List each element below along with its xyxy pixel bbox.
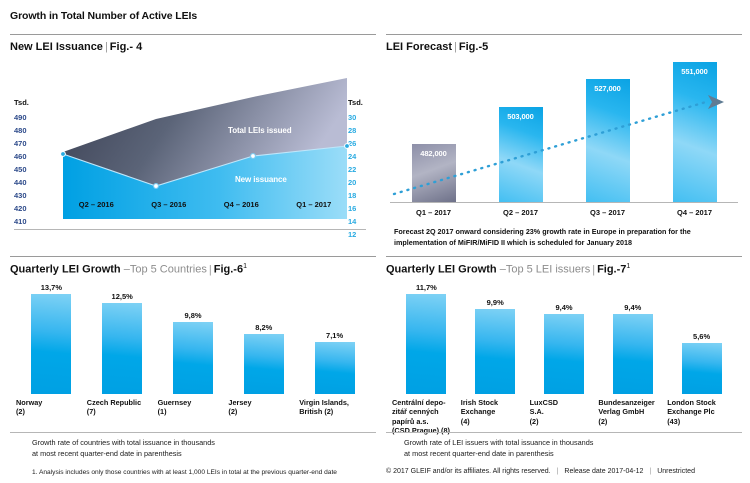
area-chart-plot-fig4: Total LEIs issued New issuance xyxy=(60,74,350,219)
bar-value-label: 482,000 xyxy=(412,149,456,158)
title-separator: | xyxy=(207,264,214,276)
category-name-line: Exchange xyxy=(461,407,524,416)
category-count: (CSD Prague) (8) xyxy=(392,426,455,435)
left-tick: 480 xyxy=(14,124,29,137)
area-chart-svg xyxy=(60,74,350,219)
bar-london-stock-exchange[interactable] xyxy=(682,343,722,394)
panel-title-text: Quarterly LEI Growth xyxy=(386,264,497,276)
forecast-note-line-1: Forecast 2Q 2017 onward considering 23% … xyxy=(394,226,724,237)
bar-slot: 9,4% xyxy=(598,282,667,394)
bar-slot: 13,7% xyxy=(16,282,87,394)
country-category-labels: Norway (2) Czech Republic (7) Guernsey (… xyxy=(16,398,370,417)
release-date: Release date 2017-04-12 xyxy=(564,468,643,475)
panel-title-subject: Top 5 LEI issuers xyxy=(506,264,590,276)
bar-guernsey[interactable] xyxy=(173,322,213,394)
bar-slot: 9,4% xyxy=(530,282,599,394)
category-name-line: Verlag GmbH xyxy=(598,407,661,416)
bar-bundesanzeiger-verlag[interactable] xyxy=(613,314,653,394)
bar-q3-2017-forecast[interactable]: 527,000 xyxy=(586,79,630,202)
x-axis-category-labels: Q2 – 2016 Q3 – 2016 Q4 – 2016 Q1 – 2017 xyxy=(60,200,350,209)
right-axis-unit: Tsd. xyxy=(348,96,363,109)
category-label-jersey: Jersey (2) xyxy=(228,398,299,417)
right-tick: 30 xyxy=(348,111,363,124)
bar-irish-stock-exchange[interactable] xyxy=(475,309,515,394)
category-count: (1) xyxy=(158,407,223,416)
right-tick: 16 xyxy=(348,202,363,215)
category-label-london-stock-exchange: London Stock Exchange Plc (43) xyxy=(667,398,736,436)
bar-slot: 503,000 xyxy=(477,62,564,202)
category-label-norway: Norway (2) xyxy=(16,398,87,417)
figure-number: Fig.-5 xyxy=(459,41,488,53)
panel-note-issuers: Growth rate of LEI issuers with total is… xyxy=(404,438,724,459)
category-name: Virgin Islands, xyxy=(299,398,364,407)
panel-divider-rule xyxy=(386,256,742,257)
category-name-line: S.A. xyxy=(530,407,593,416)
category-name-line: papírů a.s. xyxy=(392,417,455,426)
category-name-line: London Stock xyxy=(667,398,730,407)
bar-row: 11,7% 9,9% 9,4% 9,4% 5,6% xyxy=(392,282,736,394)
category-name-line: Irish Stock xyxy=(461,398,524,407)
note-line-1: Growth rate of LEI issuers with total is… xyxy=(404,438,724,449)
bar-value-label: 551,000 xyxy=(673,67,717,76)
forecast-note: Forecast 2Q 2017 onward considering 23% … xyxy=(394,226,724,248)
left-tick: 440 xyxy=(14,176,29,189)
bar-slot: 9,8% xyxy=(158,282,229,394)
title-separator: | xyxy=(103,41,110,53)
data-point-marker xyxy=(154,184,159,189)
panel-title-fig4: New LEI Issuance|Fig.- 4 xyxy=(10,41,142,53)
category-count: (2) xyxy=(530,417,593,426)
footer-rule xyxy=(386,432,742,433)
x-label: Q4 – 2017 xyxy=(651,208,738,217)
bar-q2-2017-forecast[interactable]: 503,000 xyxy=(499,107,543,202)
panel-lei-forecast: LEI Forecast|Fig.-5 482,000 503,000 527,… xyxy=(386,34,742,249)
panel-title-text: LEI Forecast xyxy=(386,41,452,53)
panel-title-text: Quarterly LEI Growth xyxy=(10,264,121,276)
category-label-csd-prague: Centrální depo- zitář cenných papírů a.s… xyxy=(392,398,461,436)
category-count: British (2) xyxy=(299,407,364,416)
bar-value-label: 9,4% xyxy=(555,303,572,312)
bar-q1-2017-actual[interactable]: 482,000 xyxy=(412,144,456,202)
bar-row: 13,7% 12,5% 9,8% 8,2% 7,1% xyxy=(16,282,370,394)
left-tick: 430 xyxy=(14,189,29,202)
bar-czech-republic[interactable] xyxy=(102,303,142,394)
left-axis-labels: Tsd. 490 480 470 460 450 440 430 420 410 xyxy=(14,96,29,228)
issuer-category-labels: Centrální depo- zitář cenných papírů a.s… xyxy=(392,398,736,436)
figure-number: Fig.- 4 xyxy=(110,41,142,53)
panel-divider-rule xyxy=(10,256,376,257)
x-label: Q1 – 2017 xyxy=(390,208,477,217)
bar-luxcsd-sa[interactable] xyxy=(544,314,584,394)
bar-slot: 9,9% xyxy=(461,282,530,394)
forecast-bars: 482,000 503,000 527,000 551,000 xyxy=(390,62,738,202)
category-label-virgin-islands-british: Virgin Islands, British (2) xyxy=(299,398,370,417)
panel-divider-rule xyxy=(10,34,376,35)
note-line-2: at most recent quarter-end date in paren… xyxy=(404,449,724,460)
country-growth-bars: 13,7% 12,5% 9,8% 8,2% 7,1% xyxy=(16,282,370,394)
x-axis-baseline xyxy=(14,229,366,230)
issuer-growth-bars: 11,7% 9,9% 9,4% 9,4% 5,6% xyxy=(392,282,736,394)
category-count: (2) xyxy=(228,407,293,416)
category-name-line: LuxCSD xyxy=(530,398,593,407)
panel-new-lei-issuance: New LEI Issuance|Fig.- 4 Tsd. 490 480 47… xyxy=(10,34,376,234)
category-name-line: Centrální depo- xyxy=(392,398,455,407)
page-title: Growth in Total Number of Active LEIs xyxy=(10,10,197,22)
x-label: Q4 – 2016 xyxy=(205,200,278,209)
bar-slot: 551,000 xyxy=(651,62,738,202)
right-tick: 18 xyxy=(348,189,363,202)
right-tick: 26 xyxy=(348,137,363,150)
category-name: Czech Republic xyxy=(87,398,152,407)
bar-slot: 8,2% xyxy=(228,282,299,394)
right-tick: 14 xyxy=(348,215,363,228)
copyright-line: © 2017 GLEIF and/or its affiliates. All … xyxy=(386,468,695,475)
bar-value-label: 12,5% xyxy=(112,292,133,301)
bar-csd-prague[interactable] xyxy=(406,294,446,394)
figure-footnote-marker: 1 xyxy=(243,263,247,270)
category-name-line: Bundesanzeiger xyxy=(598,398,661,407)
note-line-2: at most recent quarter-end date in paren… xyxy=(32,449,352,460)
data-point-marker xyxy=(345,144,350,149)
left-tick: 470 xyxy=(14,137,29,150)
x-label: Q3 – 2016 xyxy=(133,200,206,209)
bar-value-label: 9,9% xyxy=(487,298,504,307)
panel-divider-rule xyxy=(386,34,742,35)
x-label: Q1 – 2017 xyxy=(278,200,351,209)
category-count: (2) xyxy=(16,407,81,416)
figure-number: Fig.-7 xyxy=(597,264,626,276)
bar-slot: 527,000 xyxy=(564,62,651,202)
figure-number: Fig.-6 xyxy=(214,264,243,276)
bar-value-label: 5,6% xyxy=(693,332,710,341)
bar-q4-2017-forecast[interactable]: 551,000 xyxy=(673,62,717,202)
panel-title-subject: Top 5 Countries xyxy=(130,264,207,276)
bar-value-label: 11,7% xyxy=(416,283,437,292)
bar-value-label: 9,4% xyxy=(624,303,641,312)
left-axis-unit: Tsd. xyxy=(14,96,29,109)
note-line-1: Growth rate of countries with total issu… xyxy=(32,438,352,449)
category-label-bundesanzeiger: Bundesanzeiger Verlag GmbH (2) xyxy=(598,398,667,436)
right-tick: 24 xyxy=(348,150,363,163)
category-label-guernsey: Guernsey (1) xyxy=(158,398,229,417)
left-tick: 420 xyxy=(14,202,29,215)
footnote-1: 1. Analysis includes only those countrie… xyxy=(32,468,382,478)
category-count: (2) xyxy=(598,417,661,426)
right-tick: 20 xyxy=(348,176,363,189)
bar-virgin-islands-british[interactable] xyxy=(315,342,355,394)
category-label-irish-stock-exchange: Irish Stock Exchange (4) xyxy=(461,398,530,436)
x-label: Q2 – 2016 xyxy=(60,200,133,209)
series-label-new-issuance: New issuance xyxy=(235,175,287,184)
right-axis-labels: Tsd. 30 28 26 24 22 20 18 16 14 12 xyxy=(348,96,363,241)
bar-value-label: 527,000 xyxy=(586,84,630,93)
data-point-marker xyxy=(251,154,256,159)
bar-value-label: 13,7% xyxy=(41,283,62,292)
report-page: Growth in Total Number of Active LEIs Ne… xyxy=(0,0,750,483)
category-name: Jersey xyxy=(228,398,293,407)
category-name: Guernsey xyxy=(158,398,223,407)
x-label: Q2 – 2017 xyxy=(477,208,564,217)
category-label-czech-republic: Czech Republic (7) xyxy=(87,398,158,417)
left-tick: 490 xyxy=(14,111,29,124)
figure-footnote-marker: 1 xyxy=(626,263,630,270)
left-tick: 460 xyxy=(14,150,29,163)
x-label: Q3 – 2017 xyxy=(564,208,651,217)
category-name-line: Exchange Plc xyxy=(667,407,730,416)
panel-title-fig7: Quarterly LEI Growth –Top 5 LEI issuers|… xyxy=(386,263,630,276)
panel-title-fig6: Quarterly LEI Growth –Top 5 Countries|Fi… xyxy=(10,263,247,276)
panel-title-text: New LEI Issuance xyxy=(10,41,103,53)
category-name: Norway xyxy=(16,398,81,407)
category-count: (7) xyxy=(87,407,152,416)
series-label-total-leis: Total LEIs issued xyxy=(228,126,292,135)
category-label-luxcsd: LuxCSD S.A. (2) xyxy=(530,398,599,436)
bar-value-label: 503,000 xyxy=(499,112,543,121)
x-axis-baseline xyxy=(390,202,738,203)
category-count: (4) xyxy=(461,417,524,426)
panel-note-countries: Growth rate of countries with total issu… xyxy=(32,438,352,459)
right-tick: 28 xyxy=(348,124,363,137)
separator-pipe: | xyxy=(643,468,657,475)
bar-value-label: 7,1% xyxy=(326,331,343,340)
category-count: (43) xyxy=(667,417,730,426)
panel-top5-countries: Quarterly LEI Growth –Top 5 Countries|Fi… xyxy=(10,256,376,478)
bar-jersey[interactable] xyxy=(244,334,284,394)
left-tick: 450 xyxy=(14,163,29,176)
footer-rule xyxy=(10,432,376,433)
bar-norway[interactable] xyxy=(31,294,71,394)
bar-slot: 11,7% xyxy=(392,282,461,394)
panel-top5-lei-issuers: Quarterly LEI Growth –Top 5 LEI issuers|… xyxy=(386,256,742,478)
title-separator: | xyxy=(452,41,459,53)
data-point-marker xyxy=(61,152,66,157)
right-tick: 22 xyxy=(348,163,363,176)
separator-pipe: | xyxy=(551,468,565,475)
bar-slot: 12,5% xyxy=(87,282,158,394)
bar-value-label: 9,8% xyxy=(184,311,201,320)
left-tick: 410 xyxy=(14,215,29,228)
bar-value-label: 8,2% xyxy=(255,323,272,332)
bar-slot: 482,000 xyxy=(390,62,477,202)
x-axis-category-labels: Q1 – 2017 Q2 – 2017 Q3 – 2017 Q4 – 2017 xyxy=(390,208,738,217)
bar-slot: 7,1% xyxy=(299,282,370,394)
category-name-line: zitář cenných xyxy=(392,407,455,416)
forecast-note-line-2: implementation of MiFIR/MiFID II which i… xyxy=(394,237,724,248)
bar-slot: 5,6% xyxy=(667,282,736,394)
copyright-text: © 2017 GLEIF and/or its affiliates. All … xyxy=(386,468,551,475)
classification-label: Unrestricted xyxy=(657,468,695,475)
panel-title-fig5: LEI Forecast|Fig.-5 xyxy=(386,41,488,53)
